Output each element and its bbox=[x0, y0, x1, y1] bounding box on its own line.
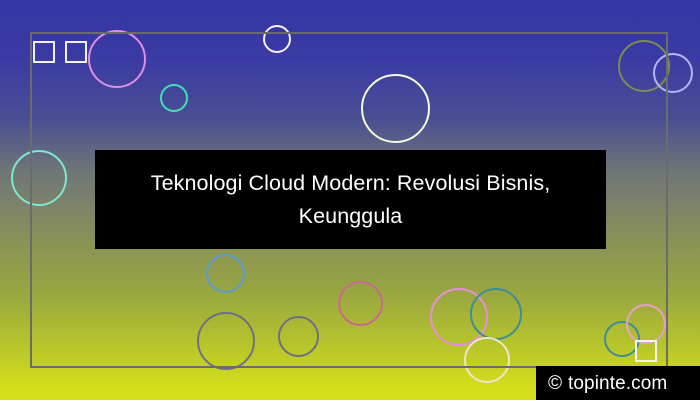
watermark-badge: © topinte.com bbox=[536, 366, 700, 400]
title-line-1: Teknologi Cloud Modern: Revolusi Bisnis, bbox=[109, 167, 592, 200]
copyright-icon: © bbox=[548, 374, 562, 393]
watermark-text: topinte.com bbox=[568, 374, 667, 393]
page-title: Teknologi Cloud Modern: Revolusi Bisnis,… bbox=[109, 167, 592, 233]
title-line-2: Keunggula bbox=[109, 200, 592, 233]
title-banner: Teknologi Cloud Modern: Revolusi Bisnis,… bbox=[95, 150, 606, 249]
image-canvas: Teknologi Cloud Modern: Revolusi Bisnis,… bbox=[0, 0, 700, 400]
